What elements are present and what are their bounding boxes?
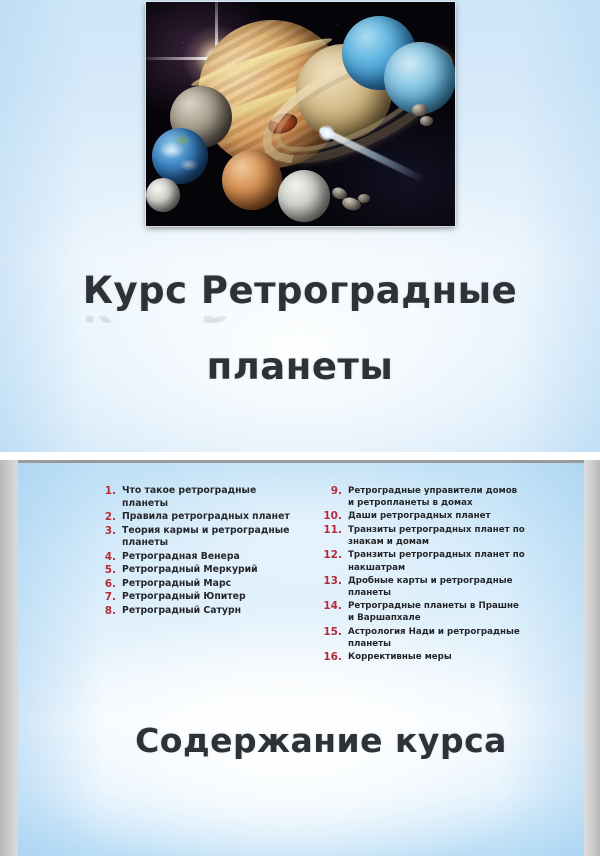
list-item: 12 Транзиты ретроградных планет по накша… [320, 549, 526, 573]
list-item: 11 Транзиты ретроградных планет по знака… [320, 524, 526, 548]
list-item-number: 14 [320, 600, 342, 613]
slide-title-reflection-text-2: планеты [0, 392, 600, 408]
list-item: 3 Теория кармы и ретроградные планеты [96, 525, 302, 550]
list-item-number: 12 [320, 549, 342, 562]
list-item: 15 Астрология Нади и ретроградные планет… [320, 626, 526, 650]
contents-heading-block: Содержание курса Содержание курса [18, 721, 584, 785]
list-item: 2 Правила ретроградных планет [96, 511, 302, 524]
list-item-label: Правила ретроградных планет [122, 511, 302, 524]
slide-separator [0, 452, 600, 460]
list-item-label: Ретроградная Венера [122, 551, 302, 564]
list-item-label: Ретроградный Юпитер [122, 591, 302, 604]
list-item-label: Транзиты ретроградных планет по накшатра… [348, 549, 526, 573]
table-of-contents: 1 Что такое ретроградные планеты 2 Прави… [96, 485, 526, 664]
list-item-number: 15 [320, 626, 342, 639]
list-item-label: Коррективные меры [348, 651, 526, 663]
list-item-number: 7 [96, 591, 116, 604]
list-item-number: 5 [96, 564, 116, 577]
list-item-number: 16 [320, 651, 342, 664]
list-item-label: Даши ретроградных планет [348, 510, 526, 522]
list-item-number: 3 [96, 525, 116, 538]
list-item-label: Теория кармы и ретроградные планеты [122, 525, 302, 550]
contents-slide: 1 Что такое ретроградные планеты 2 Прави… [0, 460, 600, 856]
small-moon-planet [146, 178, 180, 212]
list-item-label: Транзиты ретроградных планет по знакам и… [348, 524, 526, 548]
slide-frame-left [0, 460, 18, 856]
list-item-number: 11 [320, 524, 342, 537]
toc-column-right: 9 Ретроградные управители домов и ретроп… [320, 485, 526, 664]
list-item-label: Что такое ретроградные планеты [122, 485, 302, 510]
title-slide: Курс Ретроградные Курс Ретроградные план… [0, 0, 600, 452]
list-item: 1 Что такое ретроградные планеты [96, 485, 302, 510]
mars-planet [222, 150, 282, 210]
list-item: 14 Ретроградные планеты в Прашне и Варша… [320, 600, 526, 624]
solar-system-planets-photo [146, 2, 455, 226]
list-item-number: 4 [96, 551, 116, 564]
slide-title-block: Курс Ретроградные Курс Ретроградные план… [0, 266, 600, 418]
list-item-label: Астрология Нади и ретроградные планеты [348, 626, 526, 650]
list-item-label: Ретроградный Меркурий [122, 564, 302, 577]
list-item-number: 10 [320, 510, 342, 523]
list-item: 8 Ретроградный Сатурн [96, 605, 302, 618]
list-item: 7 Ретроградный Юпитер [96, 591, 302, 604]
list-item: 5 Ретроградный Меркурий [96, 564, 302, 577]
list-item: 16 Коррективные меры [320, 651, 526, 664]
list-item-number: 2 [96, 511, 116, 524]
contents-slide-canvas: 1 Что такое ретроградные планеты 2 Прави… [18, 463, 584, 856]
contents-heading: Содержание курса [18, 721, 584, 761]
list-item-number: 8 [96, 605, 116, 618]
slide-title-line-2: планеты [0, 342, 600, 392]
slide-title-line-1: Курс Ретроградные [0, 266, 600, 316]
list-item-label: Дробные карты и ретроградные планеты [348, 575, 526, 599]
slide-title-reflection-text-1: Курс Ретроградные [0, 316, 600, 332]
list-item-number: 9 [320, 485, 342, 498]
list-item-number: 1 [96, 485, 116, 498]
slide-title-reflection-1: Курс Ретроградные [0, 316, 600, 342]
list-item-label: Ретроградный Сатурн [122, 605, 302, 618]
list-item: 9 Ретроградные управители домов и ретроп… [320, 485, 526, 509]
list-item: 4 Ретроградная Венера [96, 551, 302, 564]
slide-frame-right [584, 460, 600, 856]
contents-heading-reflection: Содержание курса [18, 761, 584, 785]
list-item: 10 Даши ретроградных планет [320, 510, 526, 523]
slide-title-reflection-2: планеты [0, 392, 600, 418]
list-item-number: 6 [96, 578, 116, 591]
pluto-planet [278, 170, 330, 222]
list-item: 6 Ретроградный Марс [96, 578, 302, 591]
list-item-label: Ретроградные управители домов и ретропла… [348, 485, 526, 509]
list-item: 13 Дробные карты и ретроградные планеты [320, 575, 526, 599]
earth-planet [152, 128, 208, 184]
list-item-label: Ретроградные планеты в Прашне и Варшапха… [348, 600, 526, 624]
list-item-number: 13 [320, 575, 342, 588]
toc-column-left: 1 Что такое ретроградные планеты 2 Прави… [96, 485, 302, 664]
list-item-label: Ретроградный Марс [122, 578, 302, 591]
